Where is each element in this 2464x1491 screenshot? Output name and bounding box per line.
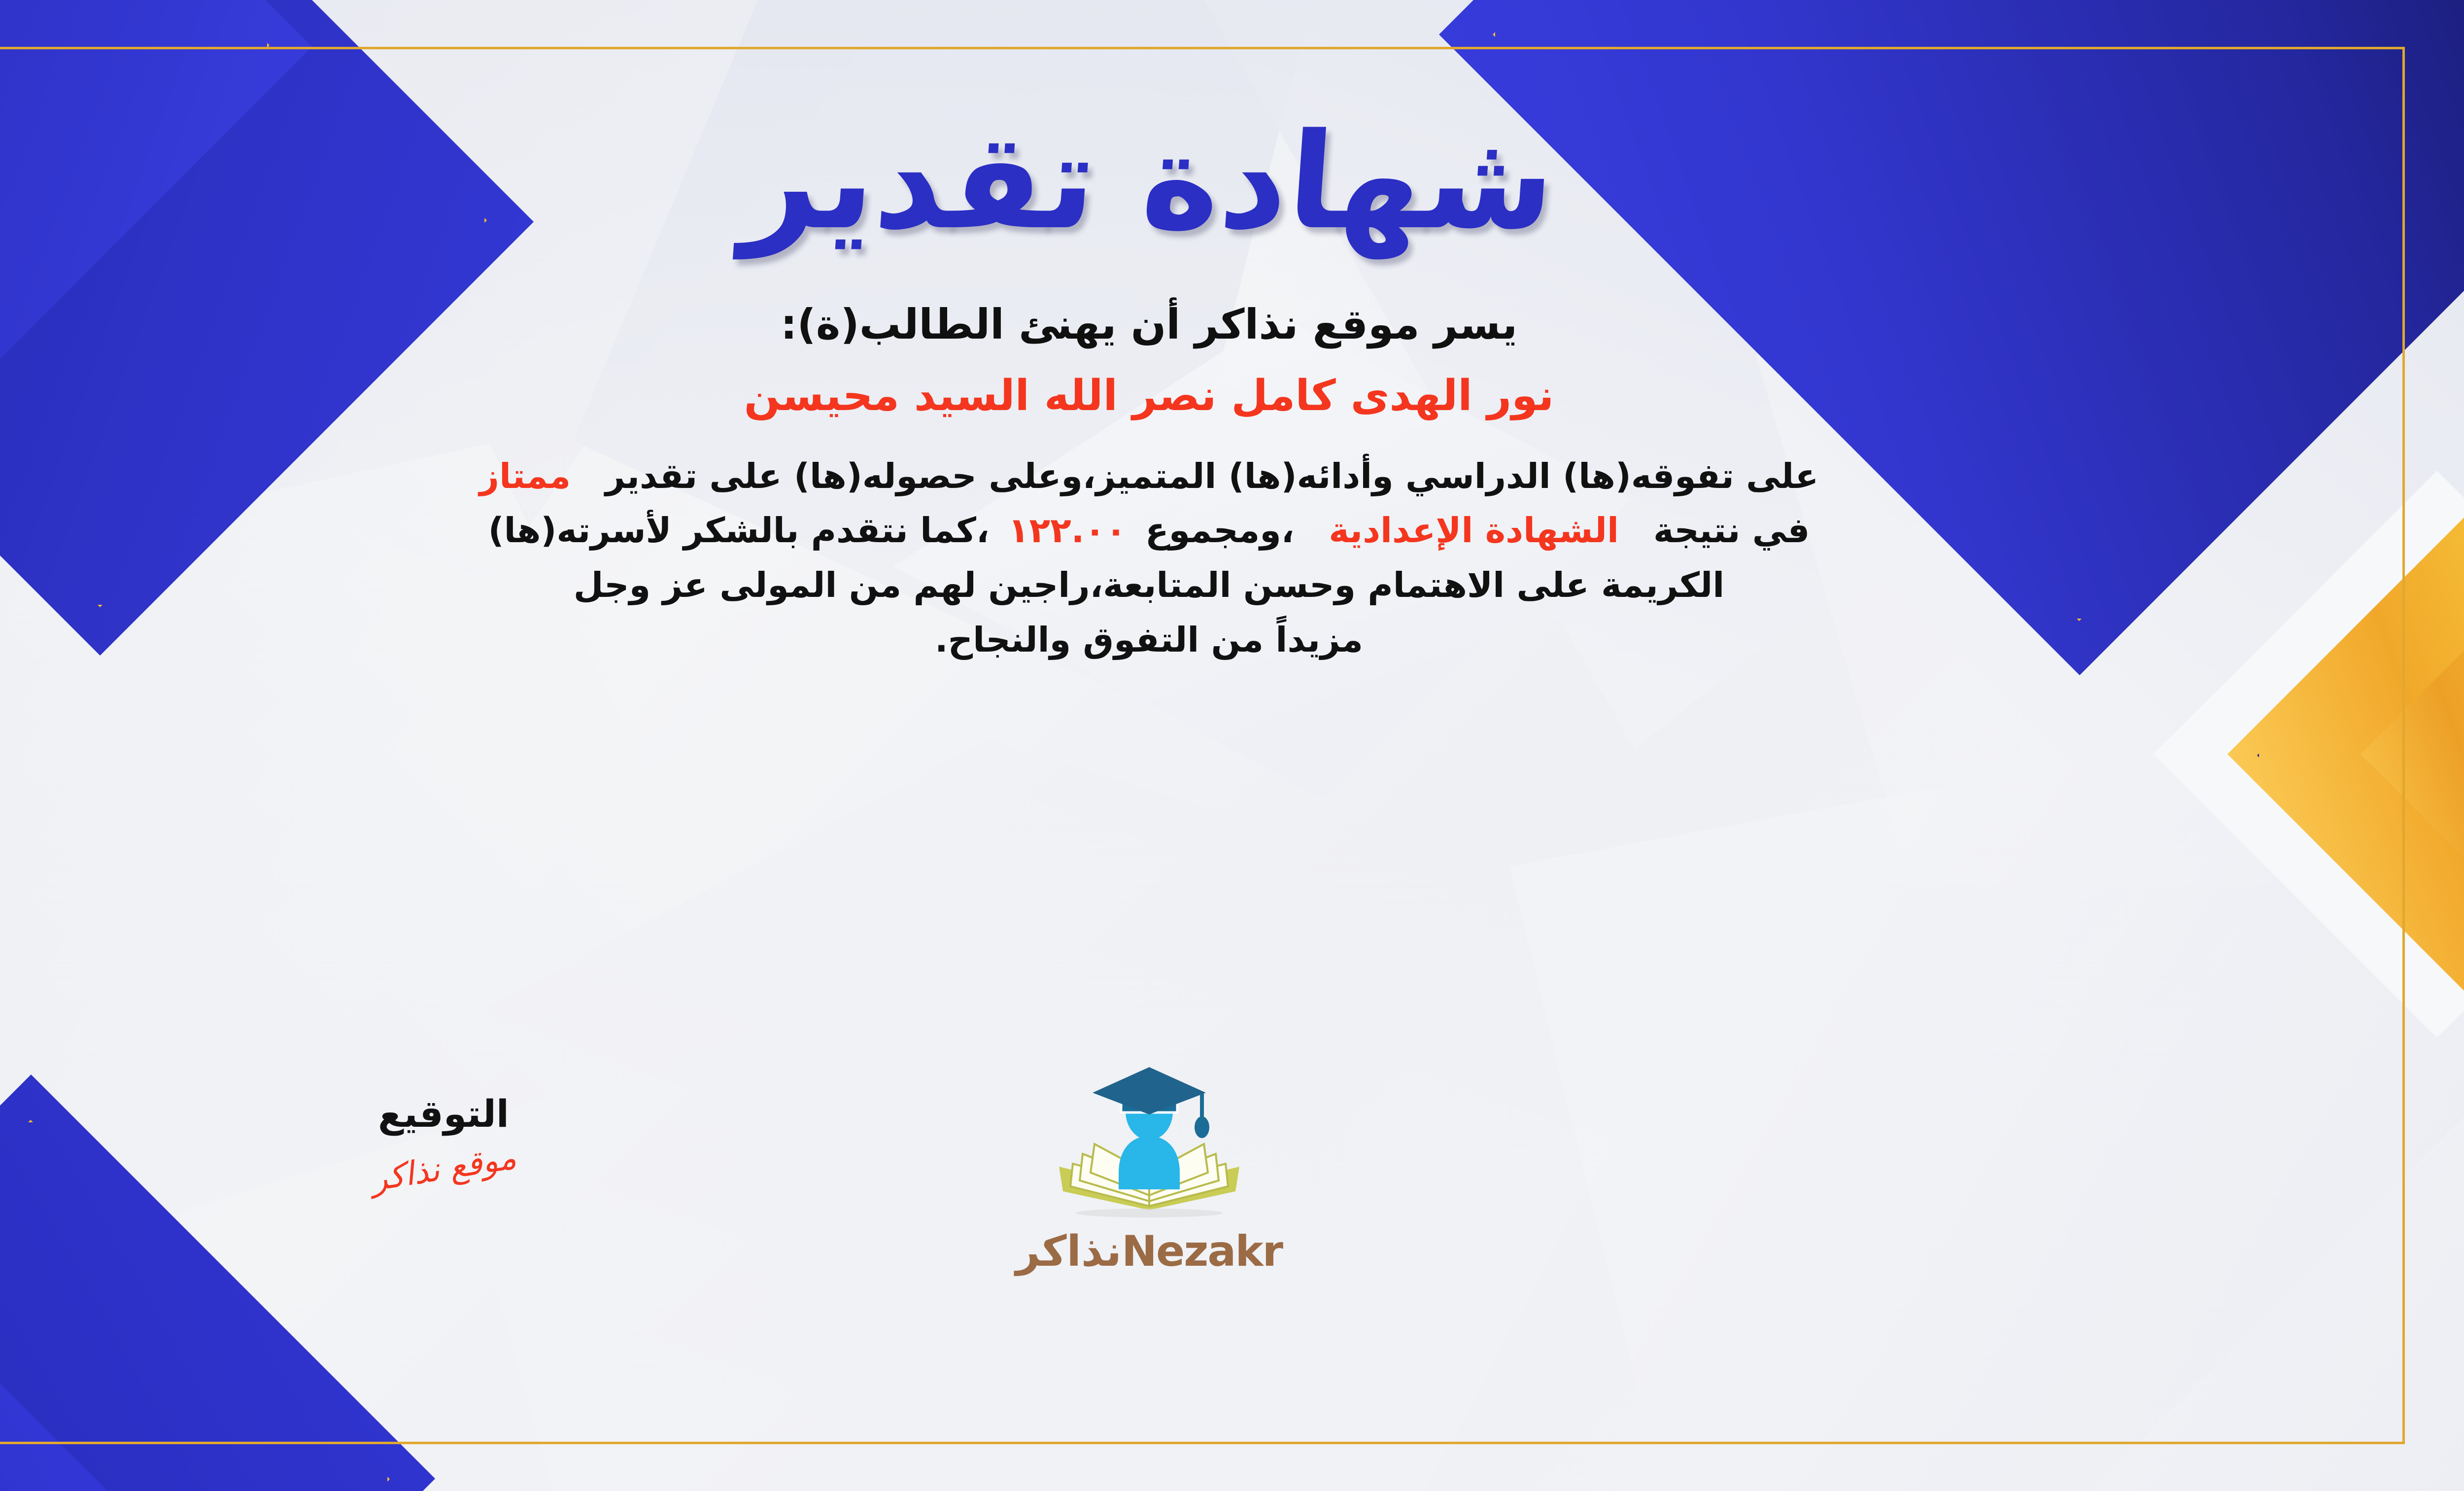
citation-row-1: على تفوقه(ها) الدراسي وأدائه(ها) المتميز…: [0, 449, 2356, 504]
signature-label: التوقيع: [296, 1092, 591, 1136]
certificate-body: يسر موقع نذاكر أن يهنئ الطالب(ة): نور ال…: [0, 300, 2356, 667]
logo-wordmark: Nezakrنذاكر: [992, 1227, 1307, 1276]
greeting-line: يسر موقع نذاكر أن يهنئ الطالب(ة):: [781, 300, 1517, 348]
certificate-name-value: الشهادة الإعدادية: [1329, 510, 1619, 551]
student-name: نور الهدى كامل نصر الله السيد محيسن: [744, 371, 1554, 420]
citation-text-1: على تفوقه(ها) الدراسي وأدائه(ها) المتميز…: [605, 456, 1818, 496]
total-score-value: ١٢٢.٠٠: [1008, 510, 1127, 551]
graduation-cap-book-icon: [1043, 1062, 1255, 1225]
certificate-canvas: شهادة تقدير يسر موقع نذاكر أن يهنئ الطال…: [0, 0, 2464, 1491]
citation-text-3: ،ومجموع: [1145, 510, 1295, 551]
nezakr-logo: Nezakrنذاكر: [992, 1062, 1307, 1276]
certificate-title: شهادة تقدير: [739, 113, 1559, 251]
citation-text-2: في نتيجة: [1653, 510, 1810, 551]
certificate-footer: التوقيع موقع نذاكر: [0, 1062, 2356, 1368]
certificate-content: شهادة تقدير يسر موقع نذاكر أن يهنئ الطال…: [0, 59, 2356, 1432]
citation-text-4: ،كما نتقدم بالشكر لأسرته(ها): [488, 510, 990, 551]
citation-row-4: مزيداً من التفوق والنجاح.: [0, 613, 2356, 667]
citation-row-2: في نتيجةالشهادة الإعدادية،ومجموع١٢٢.٠٠،ك…: [0, 503, 2356, 558]
citation-row-3: الكريمة على الاهتمام وحسن المتابعة،راجين…: [0, 558, 2356, 613]
signature-mark: موقع نذاكر: [369, 1138, 519, 1198]
logo-wordmark-arabic: نذاكر: [1016, 1227, 1122, 1276]
citation-paragraph: على تفوقه(ها) الدراسي وأدائه(ها) المتميز…: [0, 449, 2356, 667]
signature-block: التوقيع موقع نذاكر: [296, 1092, 591, 1187]
logo-wordmark-latin: Nezakr: [1122, 1227, 1282, 1276]
grade-value: ممتاز: [479, 456, 571, 496]
